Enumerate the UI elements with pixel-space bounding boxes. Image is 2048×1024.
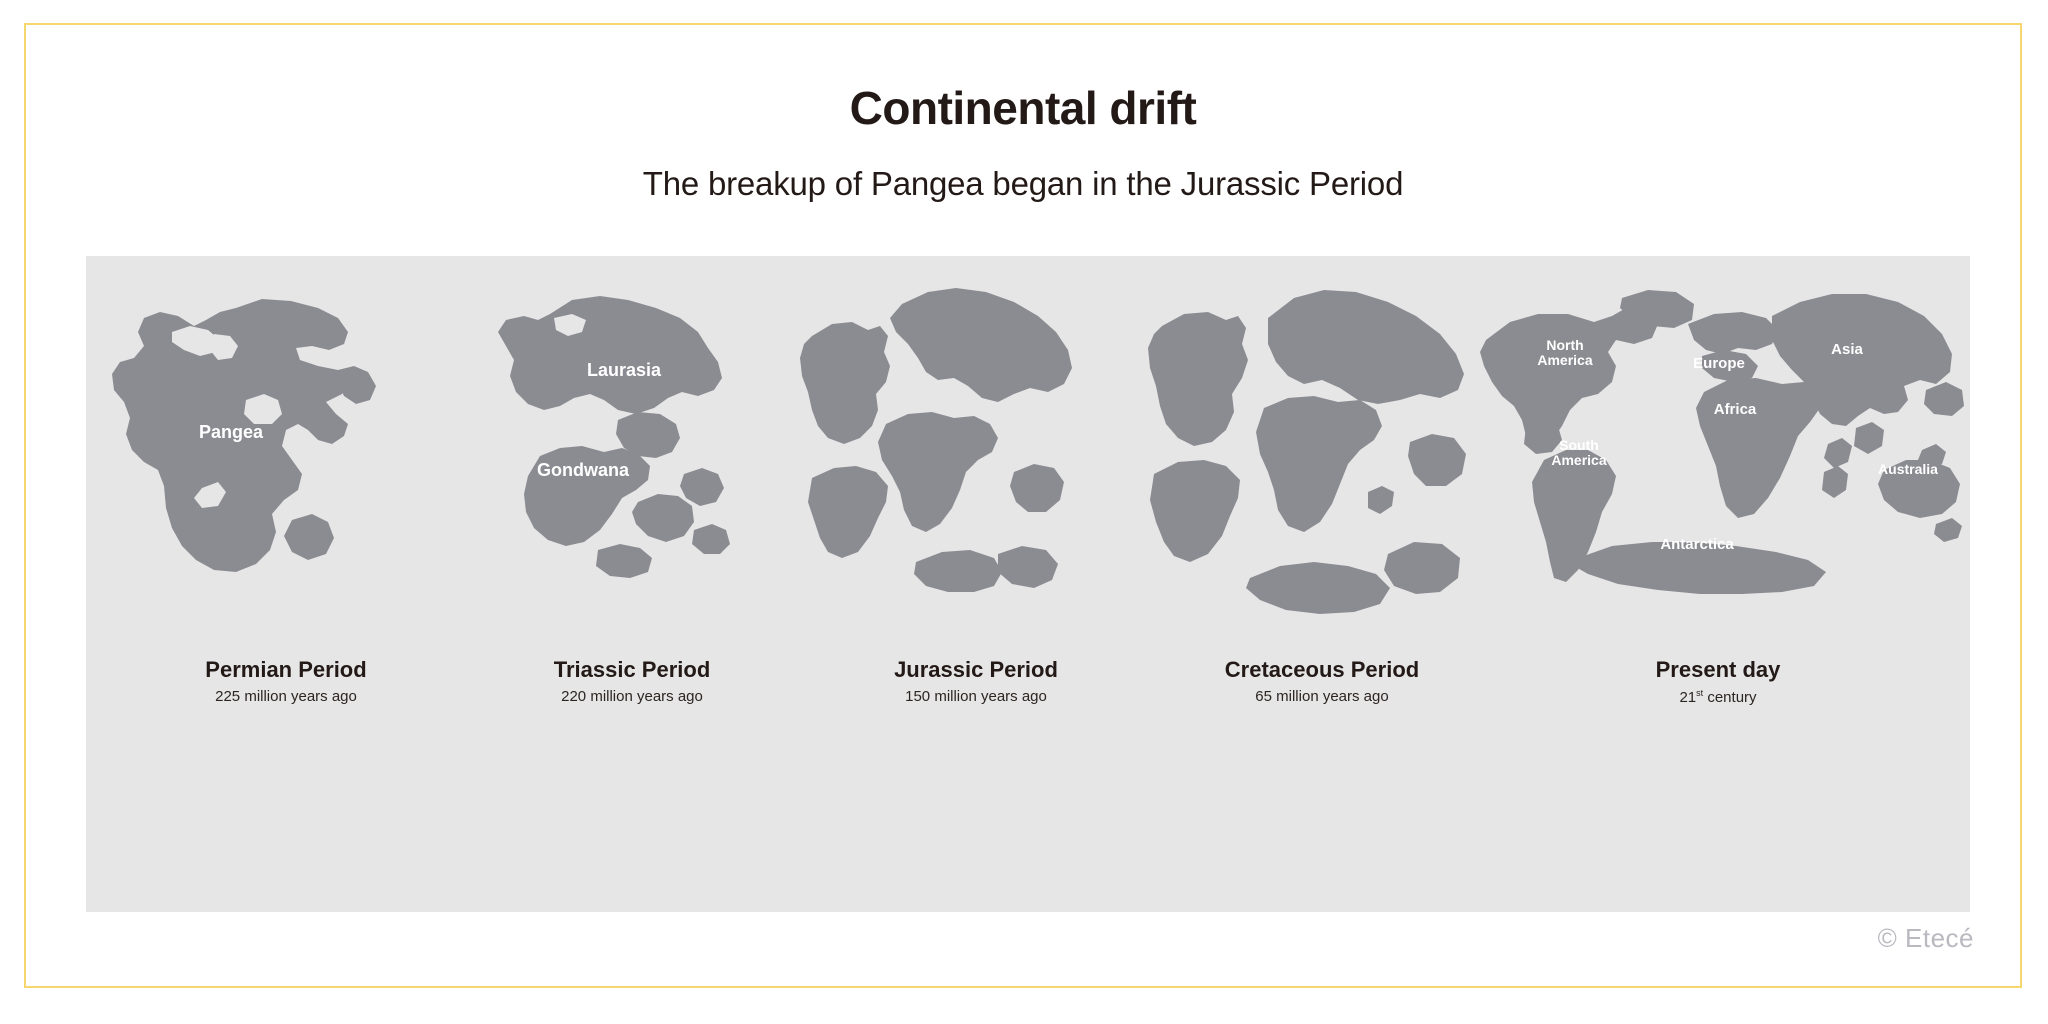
caption-sub-permian: 225 million years ago (86, 688, 486, 705)
caption-sub-cretaceous: 65 million years ago (1122, 688, 1522, 705)
caption-sub-present-day: 21st century (1466, 688, 1970, 706)
page-subtitle: The breakup of Pangea began in the Juras… (26, 165, 2020, 203)
landmass-australia-present (1878, 444, 1962, 542)
landmass-antarctica-present (1574, 542, 1826, 594)
watermark-text: Etecé (1905, 923, 1974, 953)
stage-jurassic[interactable]: Jurassic Period 150 million years ago (776, 256, 1176, 912)
landmass-eurasia-cretaceous (1268, 290, 1464, 404)
caption-sub-jurassic: 150 million years ago (776, 688, 1176, 705)
caption-title-triassic: Triassic Period (432, 657, 832, 683)
landmass-laurasia-jurassic (890, 288, 1072, 402)
stage-triassic[interactable]: Laurasia Gondwana Triassic Period 220 mi… (432, 256, 832, 912)
landmass-asia-present (1772, 294, 1964, 468)
caption-sub-present-prefix: 21 (1679, 689, 1696, 706)
landmass-africa-cretaceous (1256, 396, 1382, 532)
caption-sub-present-rest: century (1703, 689, 1756, 706)
watermark: © Etecé (1878, 923, 1974, 954)
landmass-laurasia-shape (498, 296, 722, 414)
caption-title-permian: Permian Period (86, 657, 486, 683)
caption-title-present-day: Present day (1466, 657, 1970, 683)
map-present-day (1466, 274, 1970, 634)
landmass-australia-cretaceous (1384, 542, 1460, 594)
caption-title-cretaceous: Cretaceous Period (1122, 657, 1522, 683)
landmass-india-cretaceous (1368, 434, 1466, 514)
caption-sub-triassic: 220 million years ago (432, 688, 832, 705)
landmass-northamerica-jurassic (800, 322, 890, 444)
stage-present-day[interactable]: North America South America Europe Afric… (1466, 256, 1970, 912)
map-jurassic (776, 274, 1176, 634)
stage-permian[interactable]: Pangea Permian Period 225 million years … (86, 256, 486, 912)
stage-cretaceous[interactable]: Cretaceous Period 65 million years ago (1122, 256, 1522, 912)
map-cretaceous (1122, 274, 1522, 634)
page-frame: Continental drift The breakup of Pangea … (24, 23, 2022, 988)
map-permian (86, 274, 486, 634)
landmass-northamerica-present (1480, 290, 1694, 454)
page-title: Continental drift (26, 81, 2020, 135)
landmass-gondwana-shape (524, 412, 730, 578)
caption-title-jurassic: Jurassic Period (776, 657, 1176, 683)
landmass-southamerica-cretaceous (1150, 460, 1240, 562)
landmass-africa-jurassic (878, 412, 998, 532)
timeline-panel: Pangea Permian Period 225 million years … (86, 256, 1970, 912)
landmass-southamerica-jurassic (808, 466, 888, 558)
map-triassic (432, 274, 832, 634)
landmass-india-jurassic (1010, 464, 1064, 512)
landmass-northamerica-cretaceous (1148, 312, 1248, 446)
landmass-europe-present (1688, 312, 1778, 382)
landmass-antarctica-australia-jurassic (914, 546, 1058, 592)
copyright-icon: © (1878, 923, 1898, 953)
landmass-antarctica-cretaceous (1246, 562, 1390, 614)
